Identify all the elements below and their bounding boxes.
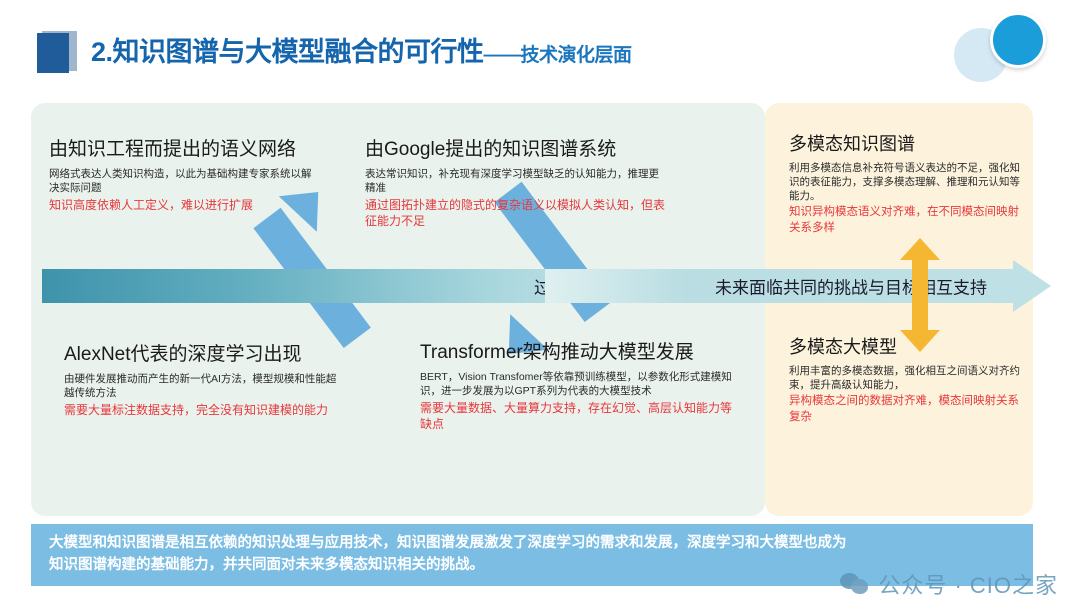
- decorative-circle-dark: [990, 12, 1046, 68]
- title-main-text: 2.知识图谱与大模型融合的可行性: [91, 37, 484, 67]
- block-limitation: 需要大量数据、大量算力支持，存在幻觉、高层认知能力等缺点: [420, 400, 735, 432]
- block-alexnet-deep-learning: AlexNet代表的深度学习出现 由硬件发展推动而产生的新一代AI方法，模型规模…: [64, 345, 344, 418]
- band-future-body: 未来面临共同的挑战与目标相互支持: [545, 269, 1015, 303]
- band-arrow-head-icon: [1013, 260, 1051, 312]
- watermark-text: 公众号 · CIO之家: [878, 568, 1058, 600]
- arrow-shaft: [912, 258, 928, 332]
- band-future-label: 未来面临共同的挑战与目标相互支持: [715, 274, 987, 299]
- block-limitation: 通过图拓扑建立的隐式的复杂语义以模拟人类认知，但表征能力不足: [365, 197, 665, 229]
- block-title: AlexNet代表的深度学习出现: [64, 345, 344, 366]
- page-title: 2.知识图谱与大模型融合的可行性——技术演化层面: [37, 31, 632, 74]
- block-semantic-network: 由知识工程而提出的语义网络 网络式表达人类知识构造，以此为基础构建专家系统以解决…: [49, 140, 317, 213]
- arrow-head-down: [900, 330, 940, 352]
- arrow-head-up: [900, 238, 940, 260]
- block-description: 利用丰富的多模态数据，强化相互之间语义对齐约束，提升高级认知能力，: [789, 364, 1029, 392]
- block-description: 利用多模态信息补充符号语义表达的不足，强化知识的表征能力，支撑多模态理解、推理和…: [789, 161, 1021, 204]
- block-title: 多模态知识图谱: [789, 135, 1021, 155]
- block-transformer-large-model: Transformer架构推动大模型发展 BERT，Vision Transfo…: [420, 343, 735, 433]
- decorative-circles: [952, 6, 1062, 86]
- square-marker-icon: [37, 31, 77, 74]
- wechat-icon: [840, 573, 870, 595]
- block-google-knowledge-graph: 由Google提出的知识图谱系统 表达常识知识，补充现有深度学习模型缺乏的认知能…: [365, 140, 665, 230]
- block-title: 由Google提出的知识图谱系统: [365, 140, 665, 161]
- block-title: Transformer架构推动大模型发展: [420, 343, 735, 364]
- square-marker-front: [37, 33, 69, 73]
- block-limitation: 异构模态之间的数据对齐难，模态间映射关系复杂: [789, 394, 1029, 425]
- block-title: 由知识工程而提出的语义网络: [49, 140, 317, 161]
- block-limitation: 知识高度依赖人工定义，难以进行扩展: [49, 197, 317, 213]
- block-limitation: 知识异构模态语义对齐难，在不同模态间映射关系多样: [789, 205, 1021, 236]
- summary-line-2: 知识图谱构建的基础能力，并共同面对未来多模态知识相关的挑战。: [49, 555, 847, 577]
- arrow-up-down-icon: [900, 238, 940, 352]
- block-multimodal-knowledge-graph: 多模态知识图谱 利用多模态信息补充符号语义表达的不足，强化知识的表征能力，支撑多…: [789, 135, 1021, 236]
- block-description: 表达常识知识，补充现有深度学习模型缺乏的认知能力，推理更精准: [365, 167, 665, 195]
- watermark: 公众号 · CIO之家: [840, 568, 1058, 600]
- band-future-support: 未来面临共同的挑战与目标相互支持: [545, 269, 1065, 303]
- block-description: BERT，Vision Transfomer等依靠预训练模型，以参数化形式建模知…: [420, 370, 735, 398]
- block-description: 由硬件发展推动而产生的新一代AI方法，模型规模和性能超越传统方法: [64, 372, 344, 400]
- block-description: 网络式表达人类知识构造，以此为基础构建专家系统以解决实际问题: [49, 167, 317, 195]
- summary-line-1: 大模型和知识图谱是相互依赖的知识处理与应用技术，知识图谱发展激发了深度学习的需求…: [49, 535, 847, 551]
- title-sub-text: ——技术演化层面: [484, 45, 632, 66]
- block-limitation: 需要大量标注数据支持，完全没有知识建模的能力: [64, 402, 344, 418]
